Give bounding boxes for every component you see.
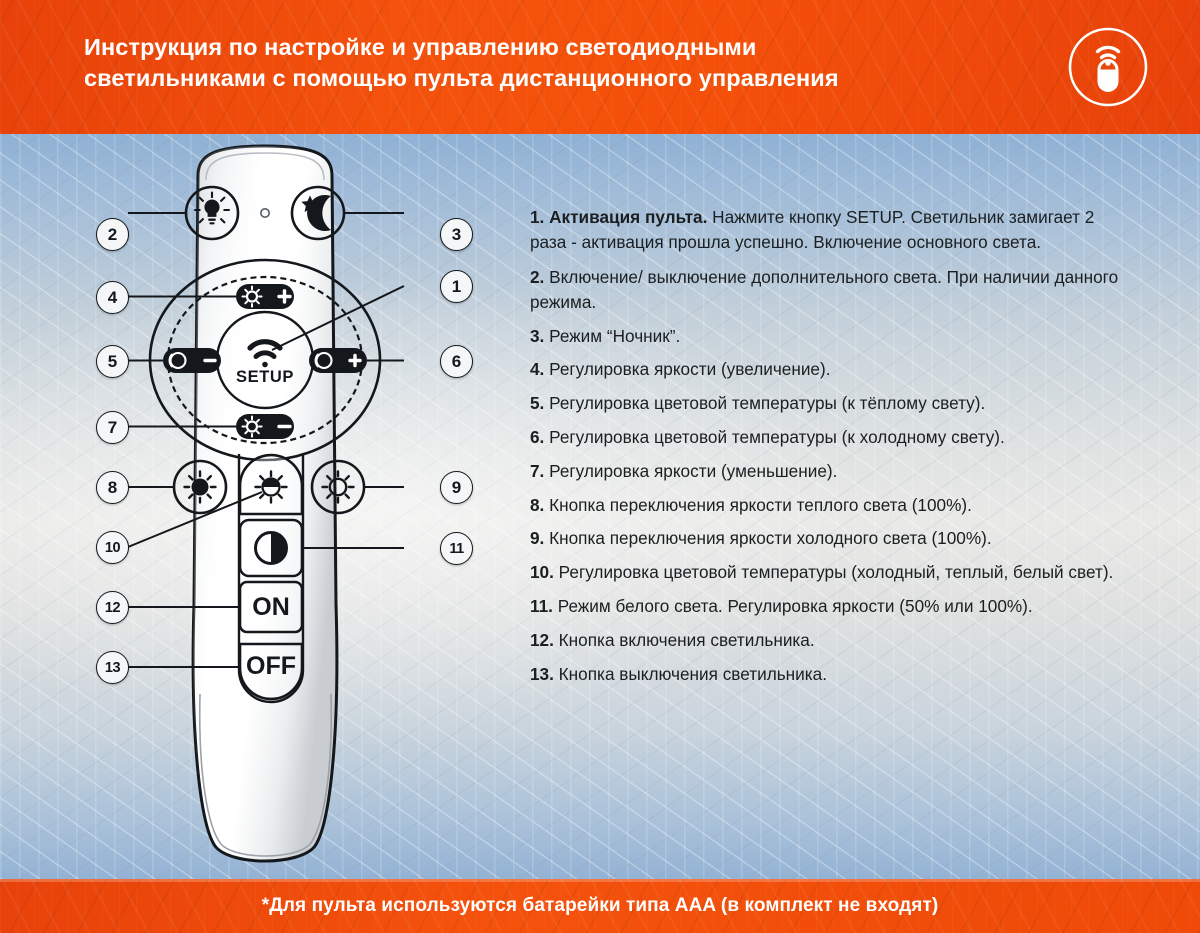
instruction-item: 11. Режим белого света. Регулировка ярко… [530, 594, 1120, 619]
callout-3: 3 [440, 218, 473, 251]
remote-svg: SETUP [0, 134, 520, 879]
remote-wifi-icon [1067, 26, 1149, 108]
callout-5: 5 [96, 345, 129, 378]
remote-illustration: SETUP [0, 134, 520, 879]
callout-6: 6 [440, 345, 473, 378]
button-temp-cool[interactable] [309, 348, 367, 373]
instruction-item: 4. Регулировка яркости (увеличение). [530, 357, 1120, 382]
instruction-number: 8. [530, 495, 549, 515]
instruction-text: Кнопка выключения светильника. [559, 664, 827, 684]
instruction-number: 6. [530, 427, 549, 447]
sun-hollow-icon [323, 472, 354, 503]
instruction-item: 12. Кнопка включения светильника. [530, 628, 1120, 653]
instruction-number: 1. [530, 207, 549, 227]
button-brightness-down[interactable] [236, 414, 294, 439]
instruction-item: 1. Активация пульта. Нажмите кнопку SETU… [530, 205, 1120, 256]
callout-11: 11 [440, 532, 473, 565]
instruction-number: 11. [530, 596, 558, 616]
page-title: Инструкция по настройке и управлению све… [84, 32, 1014, 94]
instruction-text: Регулировка цветовой температуры (холодн… [559, 562, 1114, 582]
button-power-on[interactable]: ON [240, 582, 302, 632]
callout-9: 9 [440, 471, 473, 504]
instruction-text: Режим “Ночник”. [549, 326, 680, 346]
sun-half-icon [256, 472, 287, 503]
instruction-text: Регулировка цветовой температуры (к холо… [549, 427, 1005, 447]
instruction-item: 2. Включение/ выключение дополнительного… [530, 265, 1120, 316]
instruction-item: 6. Регулировка цветовой температуры (к х… [530, 425, 1120, 450]
instruction-item: 3. Режим “Ночник”. [530, 324, 1120, 349]
header-banner: Инструкция по настройке и управлению све… [0, 0, 1200, 134]
instruction-lead: Активация пульта. [549, 207, 712, 227]
infographic-page: Инструкция по настройке и управлению све… [0, 0, 1200, 933]
instruction-number: 12. [530, 630, 559, 650]
button-brightness-up[interactable] [236, 284, 294, 309]
instruction-text: Кнопка переключения яркости холодного св… [549, 528, 992, 548]
instruction-item: 8. Кнопка переключения яркости теплого с… [530, 493, 1120, 518]
on-label: ON [252, 593, 290, 621]
callout-12: 12 [96, 591, 129, 624]
callout-10: 10 [96, 531, 129, 564]
setup-label: SETUP [236, 368, 294, 386]
instruction-item: 9. Кнопка переключения яркости холодного… [530, 526, 1120, 551]
instruction-item: 7. Регулировка яркости (уменьшение). [530, 459, 1120, 484]
callout-4: 4 [96, 281, 129, 314]
instruction-text: Кнопка включения светильника. [559, 630, 815, 650]
callout-1: 1 [440, 270, 473, 303]
instruction-item: 5. Регулировка цветовой температуры (к т… [530, 391, 1120, 416]
footer-note: *Для пульта используются батарейки типа … [0, 879, 1200, 933]
button-white-mode[interactable] [240, 520, 302, 576]
callout-7: 7 [96, 411, 129, 444]
instruction-item: 10. Регулировка цветовой температуры (хо… [530, 560, 1120, 585]
instruction-text: Регулировка яркости (увеличение). [549, 359, 830, 379]
button-power-off[interactable]: OFF [240, 644, 302, 699]
instruction-item: 13. Кнопка выключения светильника. [530, 662, 1120, 687]
instruction-text: Режим белого света. Регулировка яркости … [558, 596, 1033, 616]
footer-banner: *Для пульта используются батарейки типа … [0, 879, 1200, 933]
off-label: OFF [246, 652, 296, 680]
instruction-number: 10. [530, 562, 559, 582]
instruction-number: 3. [530, 326, 549, 346]
instruction-text: Регулировка цветовой температуры (к тёпл… [549, 393, 985, 413]
instruction-text: Кнопка переключения яркости теплого свет… [549, 495, 972, 515]
instruction-number: 7. [530, 461, 549, 481]
page-title-line-2: светильниками с помощью пульта дистанцио… [84, 63, 1014, 94]
button-cct-cycle[interactable] [240, 455, 302, 514]
button-temp-warm[interactable] [163, 348, 221, 373]
instruction-text: Включение/ выключение дополнительного св… [530, 267, 1118, 312]
page-title-line-1: Инструкция по настройке и управлению све… [84, 32, 1014, 63]
instruction-number: 5. [530, 393, 549, 413]
sun-filled-icon [185, 472, 216, 503]
instruction-text: Регулировка яркости (уменьшение). [549, 461, 837, 481]
callout-13: 13 [96, 651, 129, 684]
callout-2: 2 [96, 218, 129, 251]
callout-8: 8 [96, 471, 129, 504]
instructions-list: 1. Активация пульта. Нажмите кнопку SETU… [530, 205, 1120, 695]
instruction-number: 2. [530, 267, 549, 287]
instruction-number: 13. [530, 664, 559, 684]
instruction-number: 4. [530, 359, 549, 379]
instruction-number: 9. [530, 528, 549, 548]
